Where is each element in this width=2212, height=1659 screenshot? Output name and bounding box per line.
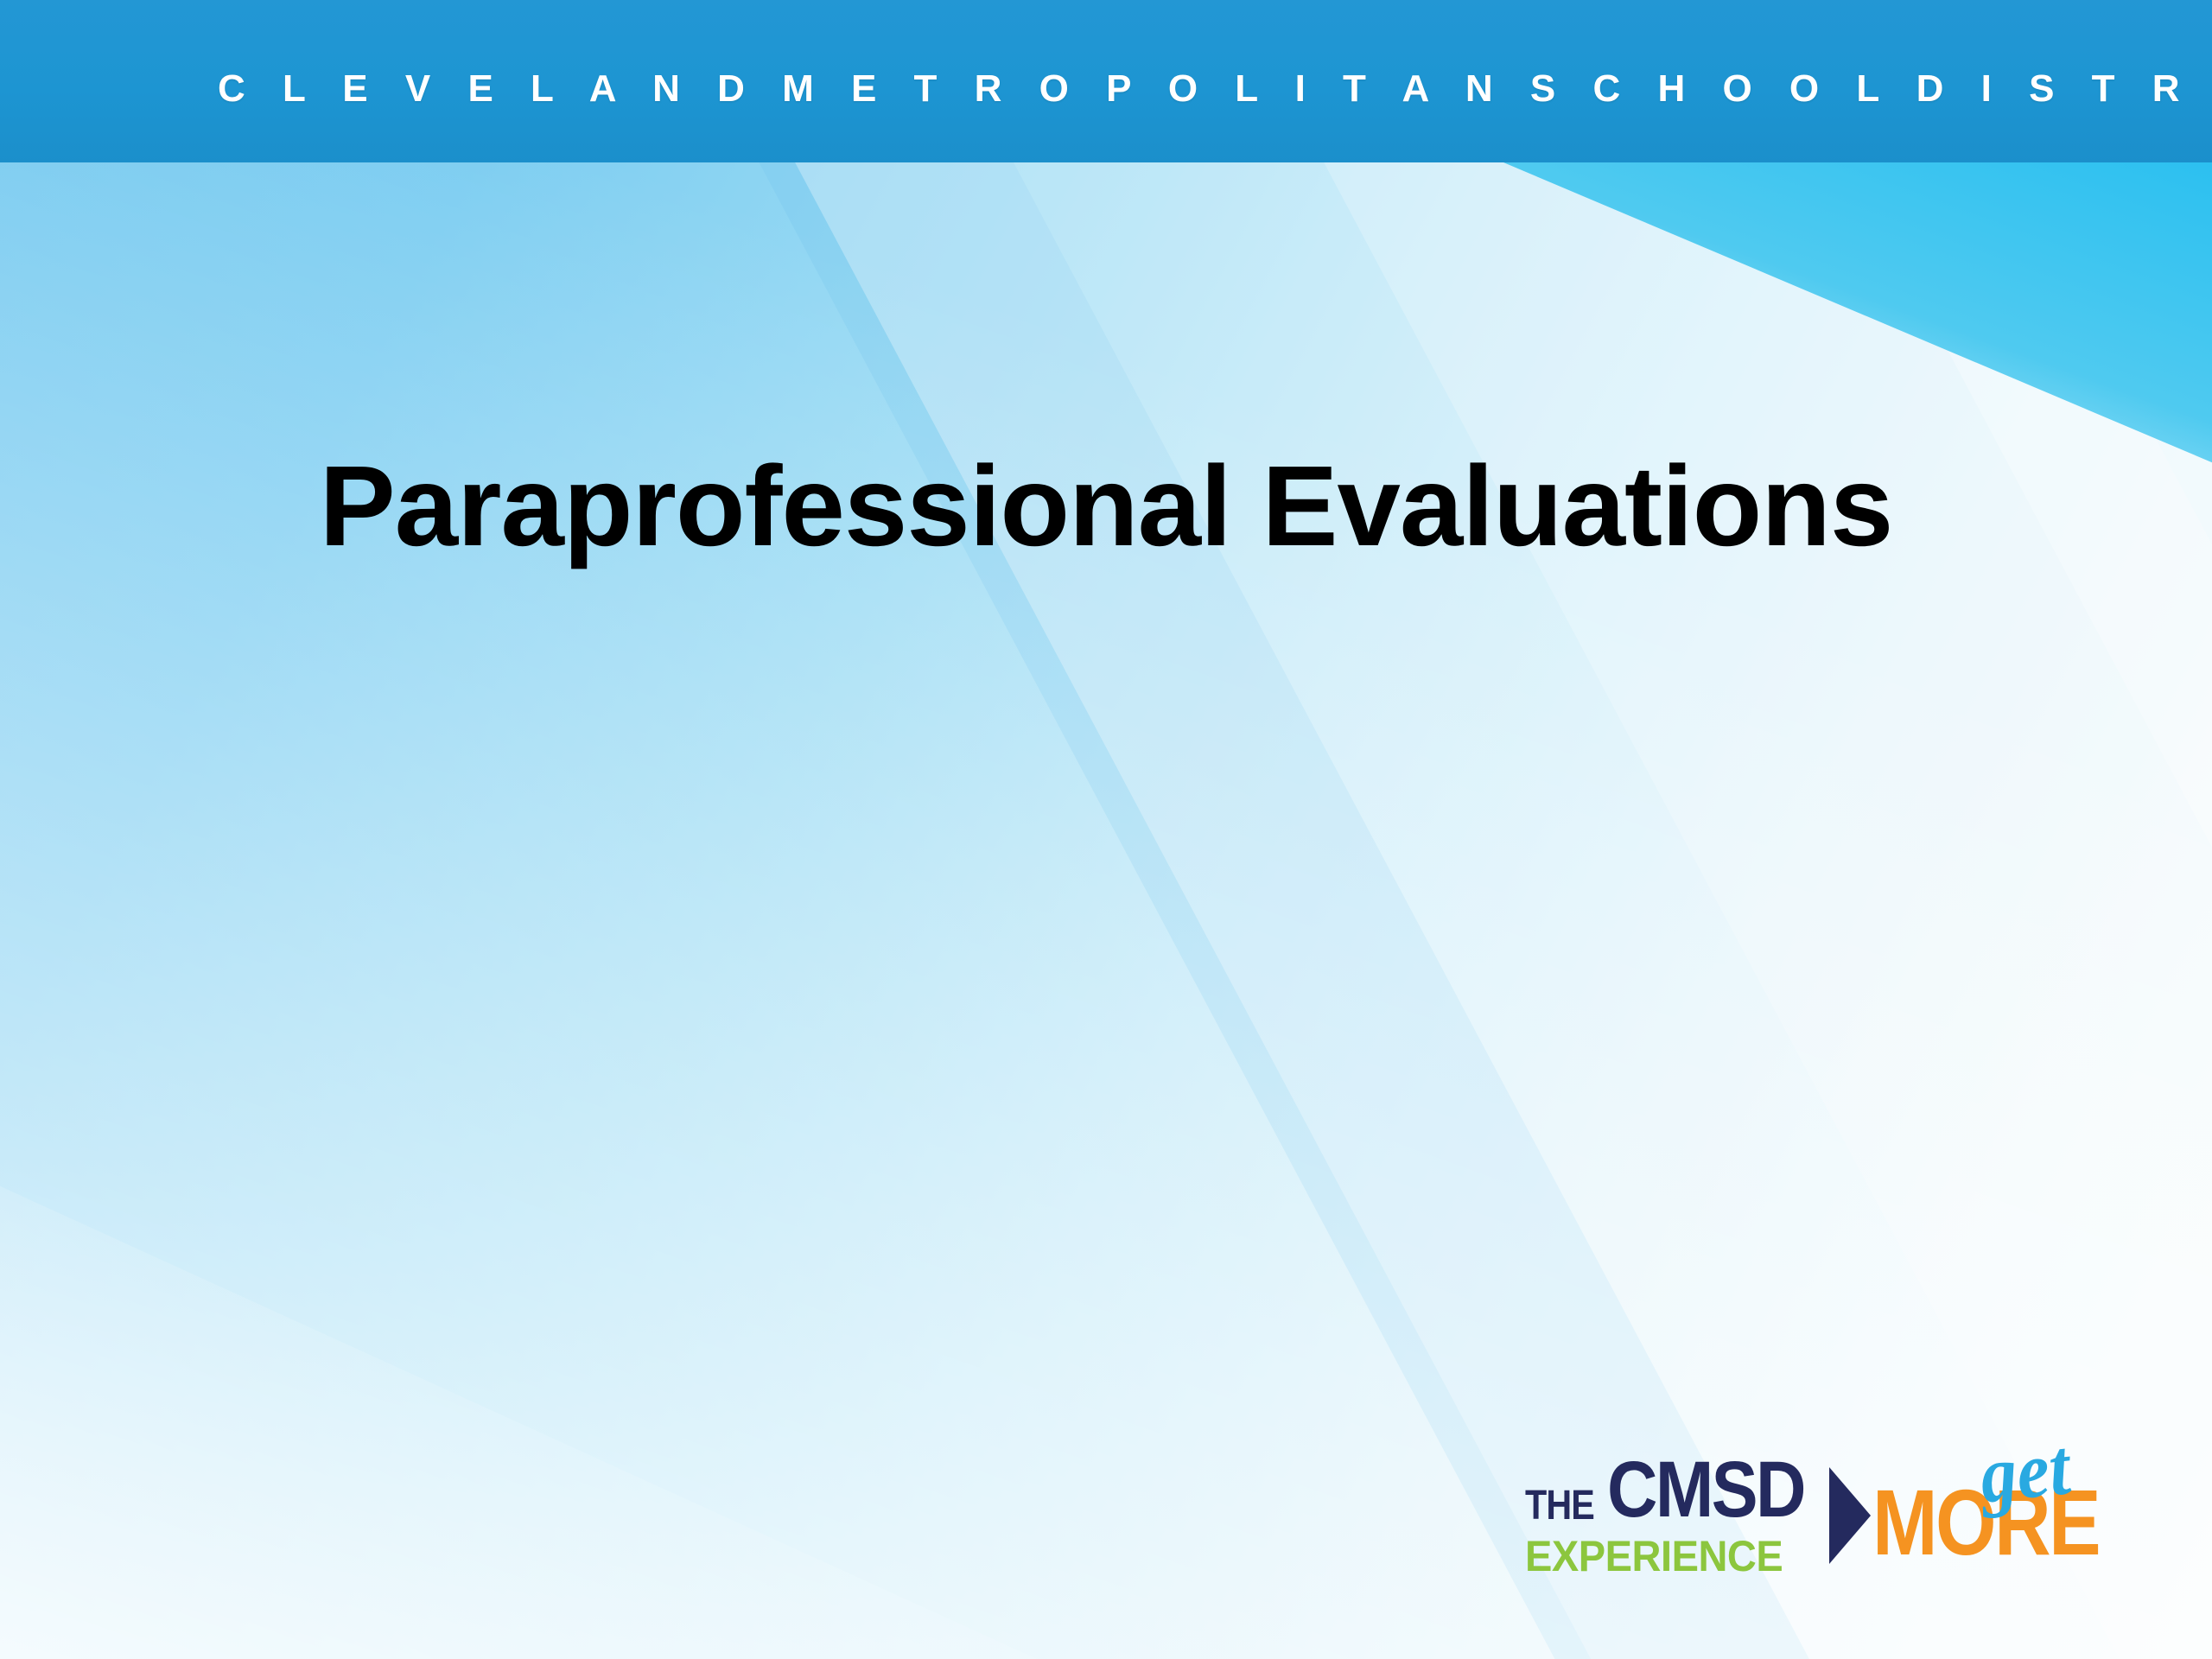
- logo-get-script-text: get: [1976, 1427, 2073, 1515]
- slide-title: Paraprofessional Evaluations: [0, 449, 2212, 563]
- logo-right-group: MORE get: [1872, 1448, 2123, 1586]
- logo-the-text: THE: [1525, 1485, 1594, 1529]
- cmsd-experience-logo: THE CMSD EXPERIENCE MORE get: [1525, 1448, 2121, 1586]
- logo-cmsd-text: CMSD: [1607, 1450, 1804, 1529]
- district-name-label: C L E V E L A N D M E T R O P O L I T A …: [218, 67, 2212, 111]
- presentation-slide: C L E V E L A N D M E T R O P O L I T A …: [0, 0, 2212, 1659]
- logo-arrow-icon: [1829, 1467, 1871, 1564]
- logo-the-cmsd-line: THE CMSD: [1525, 1450, 1831, 1529]
- logo-experience-text: EXPERIENCE: [1525, 1535, 1783, 1578]
- slide-background: [0, 0, 2212, 1659]
